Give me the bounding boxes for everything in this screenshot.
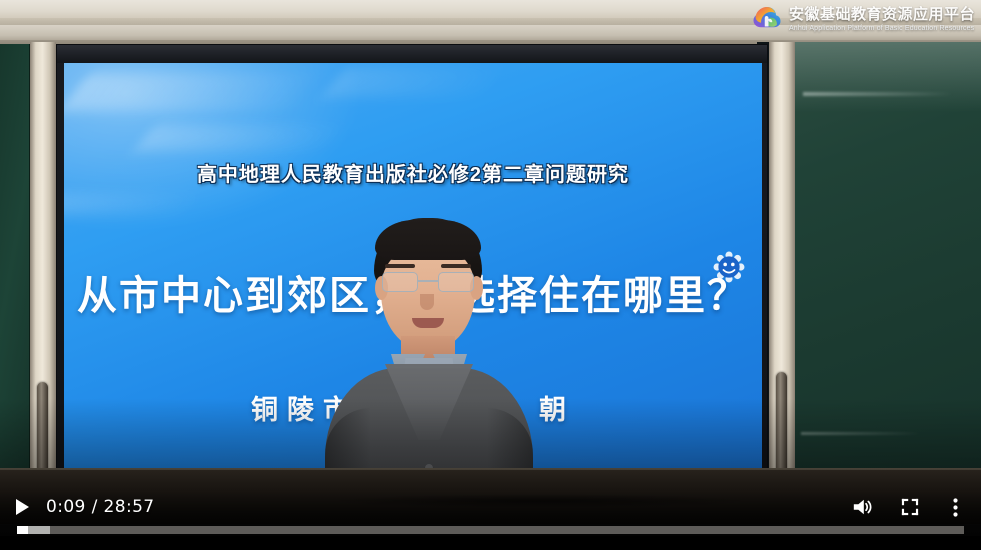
sliding-frame-rail-right [769,42,795,514]
progress-track[interactable] [17,526,964,534]
presenter-eyebrow [385,264,415,268]
smartboard-bezel: 高中地理人民教育出版社必修2第二章问题研究 从市中心到郊区，你选择住在哪里？ 铜… [56,44,768,514]
glasses-lens [438,272,474,292]
screen-streak [134,125,344,151]
chalkboard-left-panel [0,44,30,514]
play-button[interactable] [2,490,42,524]
progress-bar[interactable] [17,526,964,534]
presenter-nose [420,294,434,310]
video-surface[interactable]: 高中地理人民教育出版社必修2第二章问题研究 从市中心到郊区，你选择住在哪里？ 铜… [0,0,981,524]
screen-streak [64,193,203,215]
presenter-eyebrow [441,264,471,268]
watermark-title-en: Anhui Application Platform of Basic Educ… [789,25,975,32]
presenter-glasses-icon [382,272,474,292]
progress-played [17,526,28,534]
screen-streak [322,67,505,97]
player-controls[interactable]: 0:09 / 28:57 [0,490,981,550]
cloud-flower-logo-icon [752,4,782,34]
volume-icon[interactable] [841,490,883,524]
smartboard-screen: 高中地理人民教育出版社必修2第二章问题研究 从市中心到郊区，你选择住在哪里？ 铜… [64,63,762,485]
slide-course-title: 高中地理人民教育出版社必修2第二章问题研究 [64,158,762,187]
presenter-figure [319,218,539,485]
more-options-icon[interactable] [937,490,973,524]
video-player[interactable]: 高中地理人民教育出版社必修2第二章问题研究 从市中心到郊区，你选择住在哪里？ 铜… [0,0,981,550]
presenter-fringe [375,220,481,260]
smartboard-top-bezel [57,45,767,63]
presenter-mouth [412,318,444,328]
watermark-text: 安徽基础教育资源应用平台 Anhui Application Platform … [789,7,975,32]
smiley-face-icon [712,250,746,284]
fullscreen-icon[interactable] [889,490,931,524]
glasses-bridge [418,280,438,282]
time-display: 0:09 / 28:57 [46,497,155,517]
sweater-neckline [385,364,473,440]
screen-streak [64,73,319,111]
watermark-title-cn: 安徽基础教育资源应用平台 [789,7,975,22]
controls-row[interactable]: 0:09 / 28:57 [0,490,981,524]
glasses-lens [382,272,418,292]
controls-base [0,536,981,550]
frame-handle-right [776,372,787,482]
chalkboard-right-panel [795,42,981,514]
chalk-smudge [803,92,953,96]
frame-handle-left [37,382,48,476]
sliding-frame-rail-left [30,42,56,514]
platform-watermark: 安徽基础教育资源应用平台 Anhui Application Platform … [752,4,975,34]
